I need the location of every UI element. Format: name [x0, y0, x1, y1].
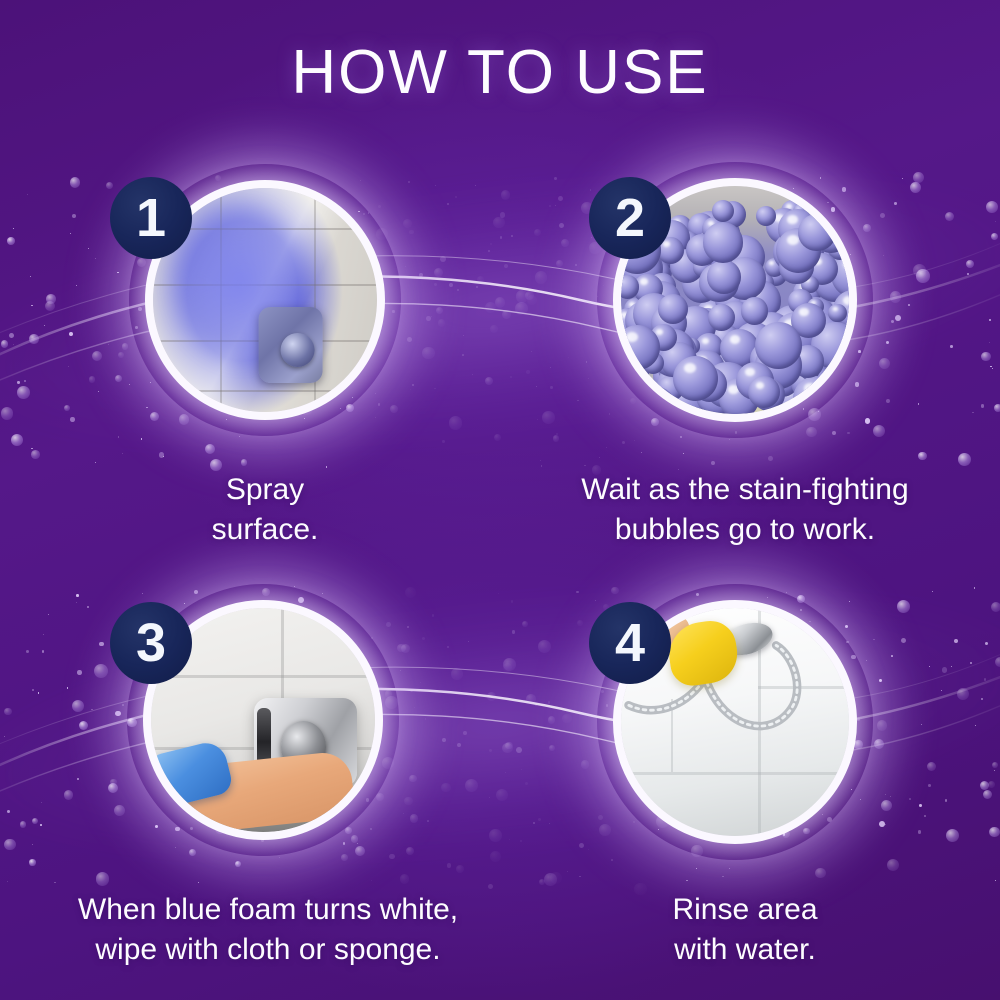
step-4-caption: Rinse area with water. [510, 890, 980, 969]
step-4-number-badge: 4 [589, 602, 671, 684]
step-2-caption: Wait as the stain-fighting bubbles go to… [500, 470, 990, 549]
step-3-caption: When blue foam turns white, wipe with cl… [8, 890, 528, 969]
page-title: HOW TO USE [0, 42, 1000, 104]
how-to-use-infographic: HOW TO USE 1 [0, 0, 1000, 1000]
step-1-number-badge: 1 [110, 177, 192, 259]
step-3-number-badge: 3 [110, 602, 192, 684]
step-1-caption: Spray surface. [20, 470, 510, 549]
step-2-number-badge: 2 [589, 177, 671, 259]
